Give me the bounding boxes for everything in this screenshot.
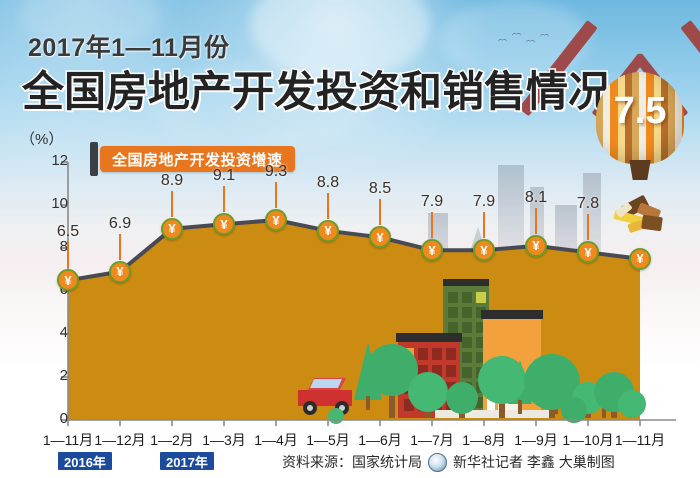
x-axis-tick-label: 1—11月	[43, 430, 93, 450]
red-car-window	[310, 379, 342, 388]
window	[462, 352, 472, 363]
tree-canopy	[478, 356, 526, 404]
yuan-symbol: ¥	[428, 244, 435, 257]
data-label-stem	[535, 208, 537, 234]
yuan-symbol: ¥	[116, 265, 123, 278]
yuan-symbol: ¥	[480, 244, 487, 257]
data-point-label: 8.9	[161, 172, 183, 190]
x-axis-tick-label: 1—12月	[94, 430, 145, 450]
data-label-stem	[587, 214, 589, 240]
yuan-symbol: ¥	[376, 231, 383, 244]
yuan-symbol: ¥	[64, 274, 71, 287]
sidewalk	[435, 410, 550, 418]
chart-plot	[0, 0, 700, 478]
y-axis-tick-label: 0	[42, 410, 68, 427]
y-axis-tick-label: 4	[42, 324, 68, 341]
data-point-marker-yuan-icon: ¥	[161, 218, 183, 240]
data-point-marker-yuan-icon: ¥	[577, 241, 599, 263]
year-badge-2016: 2016年	[58, 452, 112, 470]
x-axis-tick-label: 1—2月	[150, 430, 194, 450]
footer-credits: 资料来源：国家统计局 新华社记者 李鑫 大巢制图	[282, 452, 615, 472]
building-roof	[396, 333, 462, 342]
data-point-marker-yuan-icon: ¥	[317, 220, 339, 242]
window	[446, 348, 456, 360]
data-label-stem	[223, 186, 225, 212]
data-point-label: 7.8	[577, 195, 599, 213]
car-wheel-hub	[307, 405, 313, 411]
data-point-label: 9.3	[265, 163, 287, 181]
xinhua-logo-icon	[428, 453, 447, 472]
x-axis-tick-label: 1—6月	[358, 430, 402, 450]
data-point-label: 6.5	[57, 223, 79, 241]
balloon-value: 7.5	[596, 90, 684, 133]
data-label-stem	[431, 212, 433, 238]
y-axis-tick-label: 2	[42, 367, 68, 384]
window	[462, 367, 472, 378]
data-point-marker-yuan-icon: ¥	[525, 235, 547, 257]
window	[448, 307, 458, 318]
window	[476, 292, 486, 303]
window	[462, 292, 472, 303]
data-label-stem	[379, 199, 381, 225]
tree-canopy	[618, 390, 646, 418]
year-badge-2017: 2017年	[160, 452, 214, 470]
data-label-stem	[327, 193, 329, 219]
data-label-stem	[67, 242, 69, 268]
x-axis-tick-label: 1—7月	[410, 430, 454, 450]
y-axis-tick-label: 12	[42, 152, 68, 169]
yuan-symbol: ¥	[584, 246, 591, 259]
tree-canopy	[408, 372, 448, 412]
data-label-stem	[483, 212, 485, 238]
yuan-symbol: ¥	[220, 218, 227, 231]
x-axis-tick-label: 1—9月	[514, 430, 558, 450]
data-label-stem	[119, 234, 121, 260]
data-point-marker-yuan-icon: ¥	[213, 213, 235, 235]
x-axis-tick-label: 1—11月	[615, 430, 665, 450]
window	[432, 348, 442, 360]
data-point-label: 7.9	[473, 193, 495, 211]
building-roof	[481, 310, 543, 319]
yuan-symbol: ¥	[168, 222, 175, 235]
data-point-label: 9.1	[213, 167, 235, 185]
window	[462, 322, 472, 333]
tree-canopy	[446, 382, 478, 414]
yuan-symbol: ¥	[324, 224, 331, 237]
tree-trunk	[366, 396, 370, 410]
year-badge-2017-label: 2017年	[166, 452, 208, 471]
data-label-stem	[275, 182, 277, 208]
data-point-marker-yuan-icon: ¥	[265, 209, 287, 231]
x-axis-tick-label: 1—10月	[562, 430, 613, 450]
data-label-stem	[171, 191, 173, 217]
data-point-label: 6.9	[109, 215, 131, 233]
window	[418, 348, 428, 360]
window	[446, 365, 456, 377]
y-axis-tick-label: 10	[42, 195, 68, 212]
yuan-symbol: ¥	[272, 214, 279, 227]
data-point-marker-yuan-icon: ¥	[109, 261, 131, 283]
data-point-marker-yuan-icon: ¥	[57, 269, 79, 291]
data-point-marker-yuan-icon: ¥	[629, 248, 651, 270]
window	[448, 322, 458, 333]
source-text: 资料来源：国家统计局	[282, 452, 422, 472]
window	[462, 337, 472, 348]
data-point-marker-yuan-icon: ¥	[421, 239, 443, 261]
data-point-label: 7.9	[421, 193, 443, 211]
yuan-symbol: ¥	[532, 239, 539, 252]
x-axis-tick-label: 1—4月	[254, 430, 298, 450]
tree-trunk	[518, 400, 522, 414]
data-point-marker-yuan-icon: ¥	[369, 226, 391, 248]
bush	[561, 397, 587, 423]
x-axis-tick-label: 1—8月	[462, 430, 506, 450]
year-badge-2016-label: 2016年	[64, 452, 106, 471]
data-point-label: 8.1	[525, 189, 547, 207]
infographic-canvas: 2017年1—11月份 全国房地产开发投资和销售情况 7.5 全国房地产开发投资…	[0, 0, 700, 478]
data-point-label: 8.5	[369, 180, 391, 198]
x-axis-tick-label: 1—5月	[306, 430, 350, 450]
data-point-marker-yuan-icon: ¥	[473, 239, 495, 261]
window	[462, 307, 472, 318]
building-roof	[443, 279, 489, 286]
data-point-label: 8.8	[317, 174, 339, 192]
x-axis-tick-label: 1—3月	[202, 430, 246, 450]
window	[448, 292, 458, 303]
credit-text: 新华社记者 李鑫 大巢制图	[453, 452, 615, 472]
yuan-symbol: ¥	[636, 252, 643, 265]
bush	[328, 408, 344, 424]
